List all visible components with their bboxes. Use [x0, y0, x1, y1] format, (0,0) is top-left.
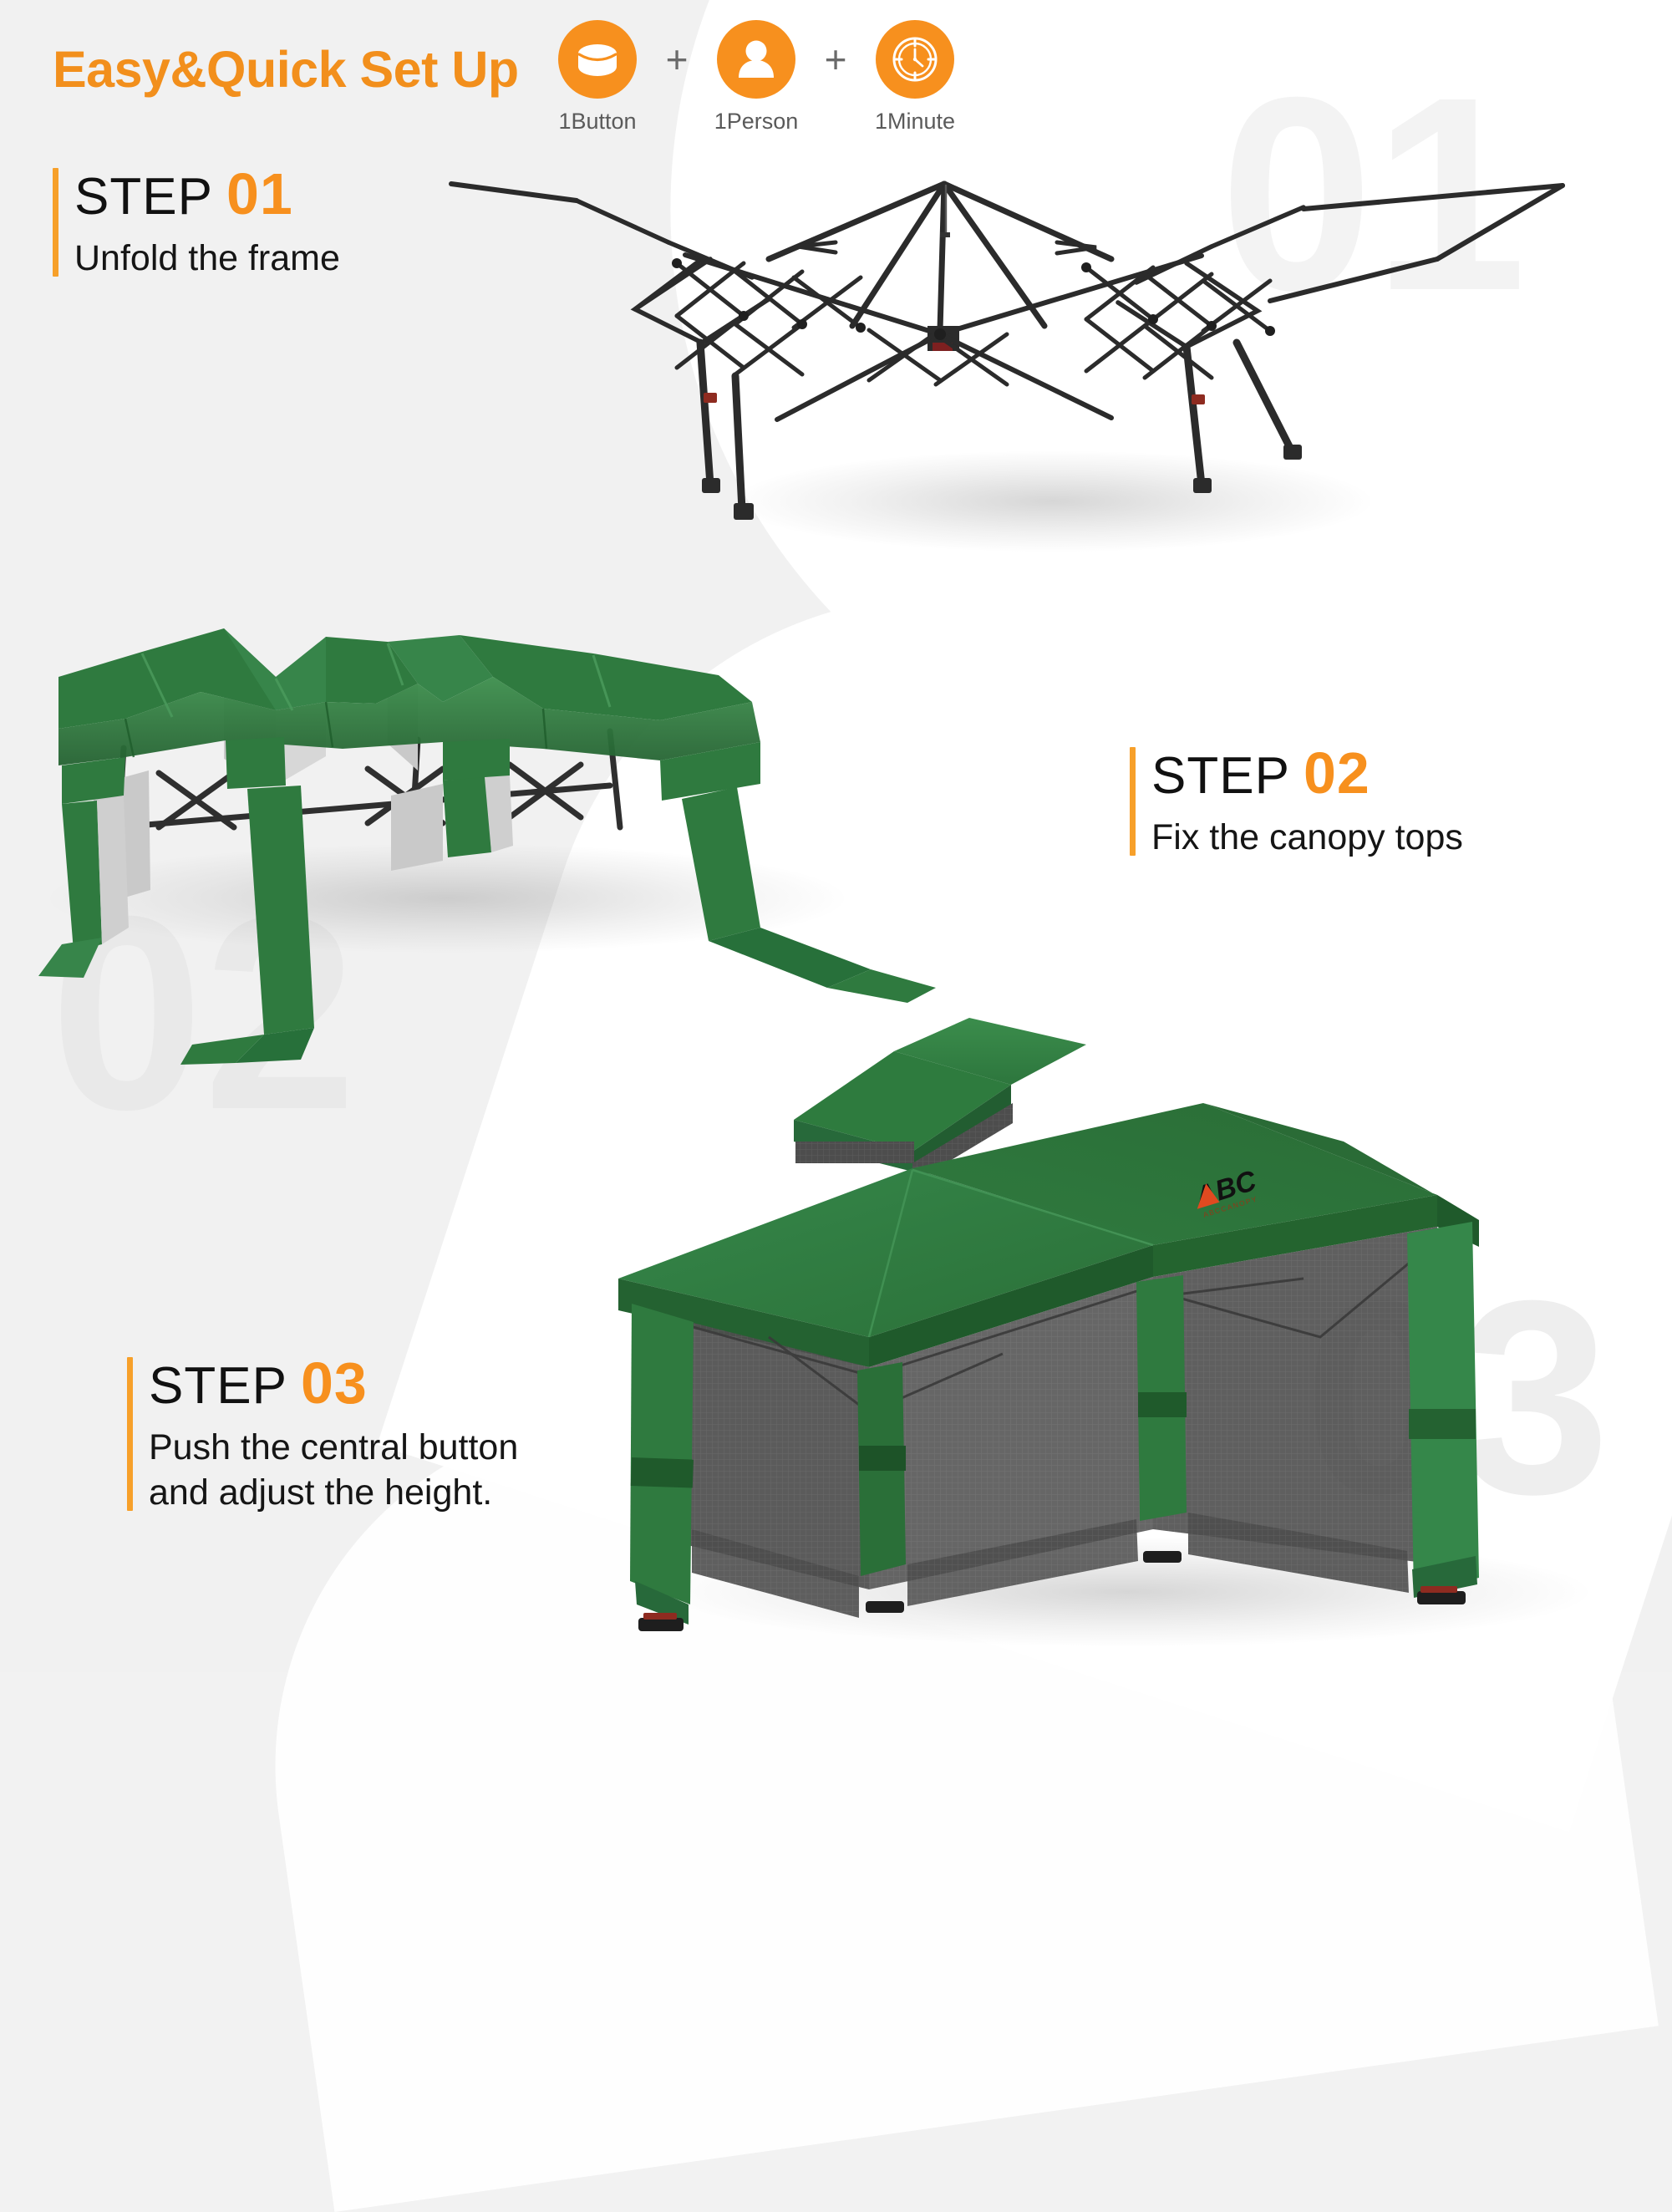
leg-front-left: [630, 1304, 694, 1625]
step-01-heading: STEP01: [74, 163, 340, 225]
badge-1button: 1Button: [541, 20, 653, 135]
step-block-03: STEP03 Push the central button and adjus…: [127, 1352, 518, 1516]
product-image-gazebo: ABC ABCCANOPY: [618, 944, 1654, 1638]
plus-separator-1: +: [653, 20, 700, 99]
clock-icon-circle: [876, 20, 954, 99]
button-icon-circle: [558, 20, 637, 99]
clock-icon: [890, 34, 940, 84]
step-02-description: Fix the canopy tops: [1151, 816, 1463, 861]
step-03-description: Push the central button and adjust the h…: [149, 1426, 518, 1516]
step-01-number: 01: [226, 161, 293, 226]
page-title: Easy&Quick Set Up: [53, 40, 519, 99]
step-01-description: Unfold the frame: [74, 236, 340, 282]
leg-front-right: [1407, 1222, 1479, 1598]
step-03-label: STEP: [149, 1357, 287, 1415]
product-image-frame: [719, 92, 1646, 560]
leg-back-right: [1136, 1275, 1187, 1521]
leg-back-left: [857, 1362, 906, 1576]
person-icon-circle: [717, 20, 795, 99]
step-block-01: STEP01 Unfold the frame: [53, 163, 340, 282]
button-icon: [573, 35, 622, 84]
step-03-heading: STEP03: [149, 1352, 518, 1414]
step-02-number: 02: [1304, 740, 1370, 806]
plus-separator-2: +: [812, 20, 859, 99]
infographic-canvas: 01 02 03 Easy&Quick Set Up 1Button +: [0, 0, 1672, 1672]
person-icon: [732, 35, 780, 84]
step-02-label: STEP: [1151, 747, 1290, 805]
step-01-label: STEP: [74, 168, 213, 226]
step-03-number: 03: [301, 1350, 368, 1416]
step-02-heading: STEP02: [1151, 742, 1463, 804]
step-block-02: STEP02 Fix the canopy tops: [1130, 742, 1463, 861]
badge-label-1button: 1Button: [558, 109, 636, 135]
